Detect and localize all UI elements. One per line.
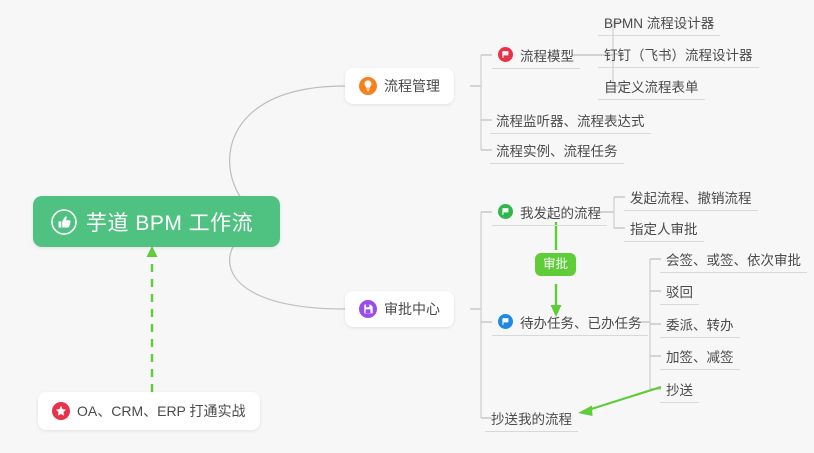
leaf-delegate-transfer[interactable]: 委派、转办: [660, 310, 740, 338]
star-icon: [52, 402, 70, 420]
branch-label-approval-center: 审批中心: [384, 299, 440, 319]
leaf-process-listener[interactable]: 流程监听器、流程表达式: [490, 106, 651, 134]
leaf-label-process-listener: 流程监听器、流程表达式: [496, 110, 645, 130]
flag-icon: [498, 204, 513, 219]
leaf-label-cc-to-me: 抄送我的流程: [491, 408, 572, 428]
node-todo-done-tasks[interactable]: 待办任务、已办任务: [492, 308, 648, 336]
leaf-label-dingtalk-designer: 钉钉（飞书）流程设计器: [604, 44, 753, 64]
leaf-label-cc: 抄送: [666, 379, 693, 399]
leaf-label-process-instance: 流程实例、流程任务: [496, 140, 618, 160]
leaf-bpmn-designer[interactable]: BPMN 流程设计器: [598, 8, 720, 36]
lightbulb-icon: [359, 77, 377, 95]
leaf-label-assignee-approval: 指定人审批: [630, 218, 698, 238]
node-label-my-started-process: 我发起的流程: [520, 202, 601, 222]
leaf-assignee-approval[interactable]: 指定人审批: [624, 214, 704, 242]
disk-icon: [359, 300, 377, 318]
mindmap-canvas: 芋道 BPM 工作流 流程管理 流程模型 BPMN 流程设计器 钉钉（飞书）流程: [0, 0, 814, 453]
leaf-start-cancel-process[interactable]: 发起流程、撤销流程: [624, 183, 758, 211]
leaf-label-countersign: 会签、或签、依次审批: [666, 249, 801, 269]
leaf-label-delegate-transfer: 委派、转办: [666, 314, 734, 334]
leaf-label-bpmn-designer: BPMN 流程设计器: [604, 12, 714, 32]
node-label-process-model: 流程模型: [520, 45, 574, 65]
bottom-note-node[interactable]: OA、CRM、ERP 打通实战: [38, 392, 260, 430]
root-label: 芋道 BPM 工作流: [86, 207, 253, 237]
flag-icon: [498, 47, 513, 62]
annotation-approval-label: 审批: [543, 258, 568, 271]
branch-node-process-management[interactable]: 流程管理: [345, 68, 454, 104]
root-node[interactable]: 芋道 BPM 工作流: [33, 196, 280, 247]
leaf-label-reject: 驳回: [666, 281, 693, 301]
flag-icon: [498, 314, 513, 329]
leaf-label-start-cancel-process: 发起流程、撤销流程: [630, 187, 752, 207]
leaf-add-remove-sign[interactable]: 加签、减签: [660, 342, 740, 370]
branch-node-approval-center[interactable]: 审批中心: [345, 291, 454, 327]
leaf-cc[interactable]: 抄送: [660, 375, 699, 403]
thumbs-up-icon: [51, 209, 77, 235]
branch-label-process-management: 流程管理: [384, 76, 440, 96]
bottom-note-label: OA、CRM、ERP 打通实战: [77, 401, 246, 421]
leaf-process-instance[interactable]: 流程实例、流程任务: [490, 136, 624, 164]
leaf-cc-to-me[interactable]: 抄送我的流程: [485, 404, 578, 432]
leaf-label-custom-form: 自定义流程表单: [604, 76, 699, 96]
node-process-model[interactable]: 流程模型: [492, 41, 580, 69]
annotation-approval-pill: 审批: [535, 253, 576, 276]
leaf-reject[interactable]: 驳回: [660, 277, 699, 305]
leaf-dingtalk-designer[interactable]: 钉钉（飞书）流程设计器: [598, 40, 759, 68]
leaf-custom-form[interactable]: 自定义流程表单: [598, 72, 705, 100]
leaf-label-add-remove-sign: 加签、减签: [666, 346, 734, 366]
node-label-todo-done-tasks: 待办任务、已办任务: [520, 312, 642, 332]
node-my-started-process[interactable]: 我发起的流程: [492, 198, 607, 226]
leaf-countersign[interactable]: 会签、或签、依次审批: [660, 245, 807, 273]
